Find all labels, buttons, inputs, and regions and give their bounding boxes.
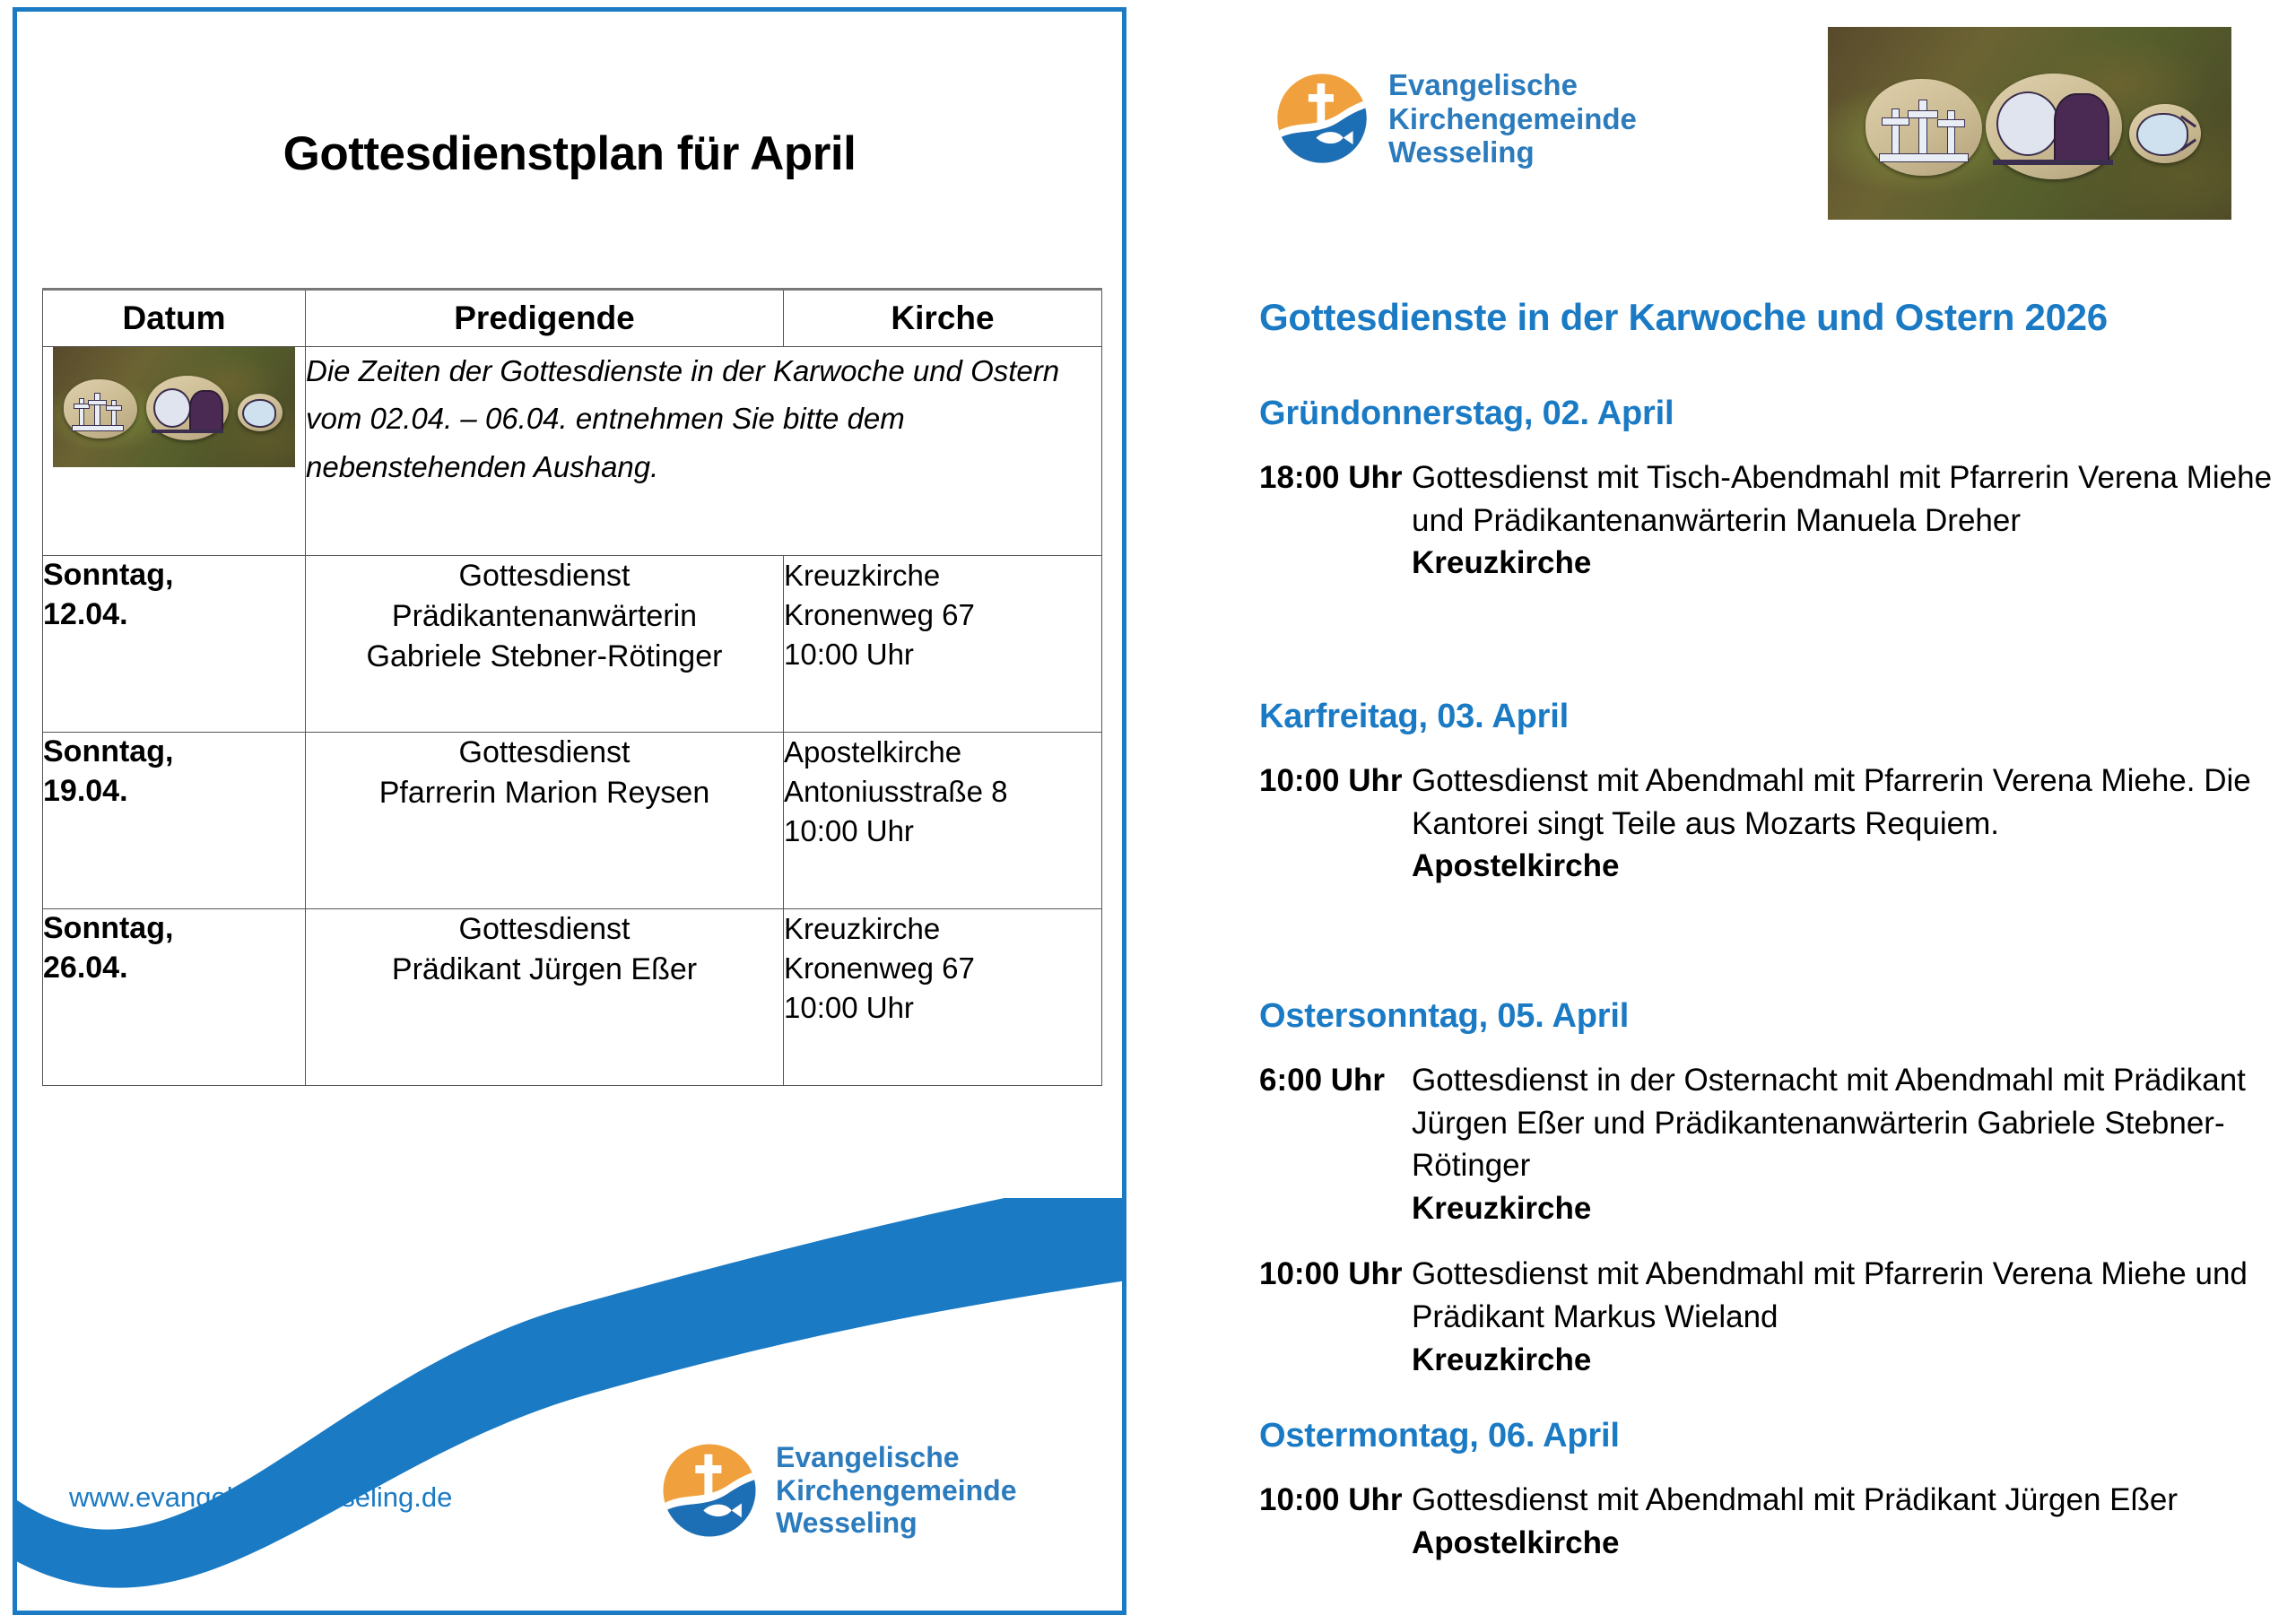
preacher-role: Pfarrerin Marion Reysen [306, 773, 783, 813]
logo-line-2: Kirchengemeinde [776, 1474, 1017, 1507]
page-title: Gottesdienstplan für April [17, 126, 1122, 181]
header-logo-wordmark: Evangelische Kirchengemeinde Wesseling [1388, 68, 1637, 169]
service-church: Kreuzkirche [1412, 1339, 2273, 1382]
day-heading: Gründonnerstag, 02. April [1259, 395, 2273, 433]
service-name: Gottesdienst [306, 556, 783, 596]
gottesdienstplan-panel: Gottesdienstplan für April Datum Predige… [13, 7, 1126, 1615]
service-entry: 10:00 Uhr Gottesdienst mit Abendmahl mit… [1259, 760, 2273, 888]
cell-church: Kreuzkirche Kronenweg 67 10:00 Uhr [784, 909, 1102, 1086]
service-time: 10:00 Uhr [784, 635, 1101, 674]
cell-date: Sonntag, 26.04. [43, 909, 306, 1086]
cell-church: Apostelkirche Antoniusstraße 8 10:00 Uhr [784, 733, 1102, 909]
day-block-gruendonnerstag: Gründonnerstag, 02. April 18:00 Uhr Gott… [1259, 395, 2273, 608]
table-row: Sonntag, 19.04. Gottesdienst Pfarrerin M… [43, 733, 1102, 909]
day-block-ostermontag: Ostermontag, 06. April 10:00 Uhr Gottesd… [1259, 1417, 2273, 1587]
cell-preacher: Gottesdienst Prädikantenanwärterin Gabri… [306, 556, 784, 733]
day-heading: Ostersonntag, 05. April [1259, 997, 2273, 1036]
easter-stones-photo [1828, 27, 2231, 220]
service-entry: 10:00 Uhr Gottesdienst mit Abendmahl mit… [1259, 1253, 2273, 1381]
cell-preacher: Gottesdienst Pfarrerin Marion Reysen [306, 733, 784, 909]
church-name: Kreuzkirche [784, 909, 1101, 949]
service-description: Gottesdienst mit Abendmahl mit Prädikant… [1412, 1482, 2178, 1517]
service-time: 10:00 Uhr [1259, 1479, 1412, 1522]
table-row: Sonntag, 12.04. Gottesdienst Prädikanten… [43, 556, 1102, 733]
service-description: Gottesdienst mit Tisch-Abendmahl mit Pfa… [1412, 460, 2272, 538]
service-entry: 10:00 Uhr Gottesdienst mit Abendmahl mit… [1259, 1479, 2273, 1564]
church-logo-icon [1274, 70, 1370, 167]
preacher-role: Prädikant Jürgen Eßer [306, 950, 783, 990]
service-time: 10:00 Uhr [1259, 1253, 1412, 1296]
cell-church: Kreuzkirche Kronenweg 67 10:00 Uhr [784, 556, 1102, 733]
service-time: 18:00 Uhr [1259, 456, 1412, 499]
service-description: Gottesdienst mit Abendmahl mit Pfarrerin… [1412, 1256, 2248, 1334]
service-church: Kreuzkirche [1412, 542, 2273, 585]
service-name: Gottesdienst [306, 733, 783, 773]
column-header-datum: Datum [43, 290, 306, 347]
date-number: 12.04. [43, 595, 305, 635]
logo-line-1: Evangelische [1388, 68, 1637, 102]
column-header-kirche: Kirche [784, 290, 1102, 347]
service-time: 6:00 Uhr [1259, 1059, 1412, 1102]
cell-preacher: Gottesdienst Prädikant Jürgen Eßer [306, 909, 784, 1086]
service-time: 10:00 Uhr [784, 988, 1101, 1028]
service-details: Gottesdienst mit Abendmahl mit Pfarrerin… [1412, 1253, 2273, 1381]
service-details: Gottesdienst mit Tisch-Abendmahl mit Pfa… [1412, 456, 2273, 585]
day-heading: Ostermontag, 06. April [1259, 1417, 2273, 1455]
church-name: Kreuzkirche [784, 556, 1101, 595]
notice-image-cell [43, 347, 306, 556]
preacher-role: Prädikantenanwärterin [306, 596, 783, 637]
logo-line-3: Wesseling [1388, 135, 1637, 169]
footer-logo-wordmark: Evangelische Kirchengemeinde Wesseling [776, 1441, 1017, 1539]
cell-date: Sonntag, 19.04. [43, 733, 306, 909]
church-address: Kronenweg 67 [784, 949, 1101, 988]
date-number: 26.04. [43, 949, 305, 988]
church-address: Kronenweg 67 [784, 595, 1101, 635]
service-church: Apostelkirche [1412, 845, 2273, 888]
preacher-name: Gabriele Stebner-Rötinger [306, 637, 783, 677]
cell-date: Sonntag, 12.04. [43, 556, 306, 733]
service-time: 10:00 Uhr [1259, 760, 1412, 803]
wave-decoration [17, 1198, 1122, 1611]
church-address: Antoniusstraße 8 [784, 772, 1101, 812]
table-header-row: Datum Predigende Kirche [43, 290, 1102, 347]
service-entry: 6:00 Uhr Gottesdienst in der Osternacht … [1259, 1059, 2273, 1229]
service-church: Apostelkirche [1412, 1522, 2178, 1565]
section-title: Gottesdienste in der Karwoche und Ostern… [1259, 296, 2108, 339]
service-details: Gottesdienst in der Osternacht mit Abend… [1412, 1059, 2273, 1229]
easter-stones-photo-thumbnail [53, 347, 295, 467]
service-entry: 18:00 Uhr Gottesdienst mit Tisch-Abendma… [1259, 456, 2273, 585]
table-row-notice: Die Zeiten der Gottesdienste in der Karw… [43, 347, 1102, 556]
service-details: Gottesdienst mit Abendmahl mit Prädikant… [1412, 1479, 2178, 1564]
date-weekday: Sonntag, [43, 909, 305, 949]
notice-text-cell: Die Zeiten der Gottesdienste in der Karw… [306, 347, 1102, 556]
logo-line-2: Kirchengemeinde [1388, 102, 1637, 136]
service-details: Gottesdienst mit Abendmahl mit Pfarrerin… [1412, 760, 2273, 888]
service-description: Gottesdienst in der Osternacht mit Abend… [1412, 1063, 2246, 1183]
service-name: Gottesdienst [306, 909, 783, 950]
service-time: 10:00 Uhr [784, 812, 1101, 851]
church-logo-icon [659, 1440, 760, 1541]
karwoche-ostern-panel: Evangelische Kirchengemeinde Wesseling G… [1157, 0, 2296, 1624]
date-weekday: Sonntag, [43, 733, 305, 772]
logo-line-1: Evangelische [776, 1441, 1017, 1473]
footer-logo: Evangelische Kirchengemeinde Wesseling [659, 1440, 1017, 1541]
column-header-predigende: Predigende [306, 290, 784, 347]
day-heading: Karfreitag, 03. April [1259, 698, 2273, 736]
service-schedule-table: Datum Predigende Kirche [42, 288, 1102, 1086]
day-block-karfreitag: Karfreitag, 03. April 10:00 Uhr Gottesdi… [1259, 698, 2273, 911]
date-number: 19.04. [43, 772, 305, 812]
service-description: Gottesdienst mit Abendmahl mit Pfarrerin… [1412, 763, 2251, 841]
logo-line-3: Wesseling [776, 1507, 1017, 1539]
table-row: Sonntag, 26.04. Gottesdienst Prädikant J… [43, 909, 1102, 1086]
date-weekday: Sonntag, [43, 556, 305, 595]
header-logo: Evangelische Kirchengemeinde Wesseling [1274, 68, 1637, 169]
church-name: Apostelkirche [784, 733, 1101, 772]
service-church: Kreuzkirche [1412, 1187, 2273, 1230]
website-url[interactable]: www.evangelisch-wesseling.de [69, 1481, 452, 1514]
day-block-ostersonntag: Ostersonntag, 05. April 6:00 Uhr Gottesd… [1259, 997, 2273, 1404]
